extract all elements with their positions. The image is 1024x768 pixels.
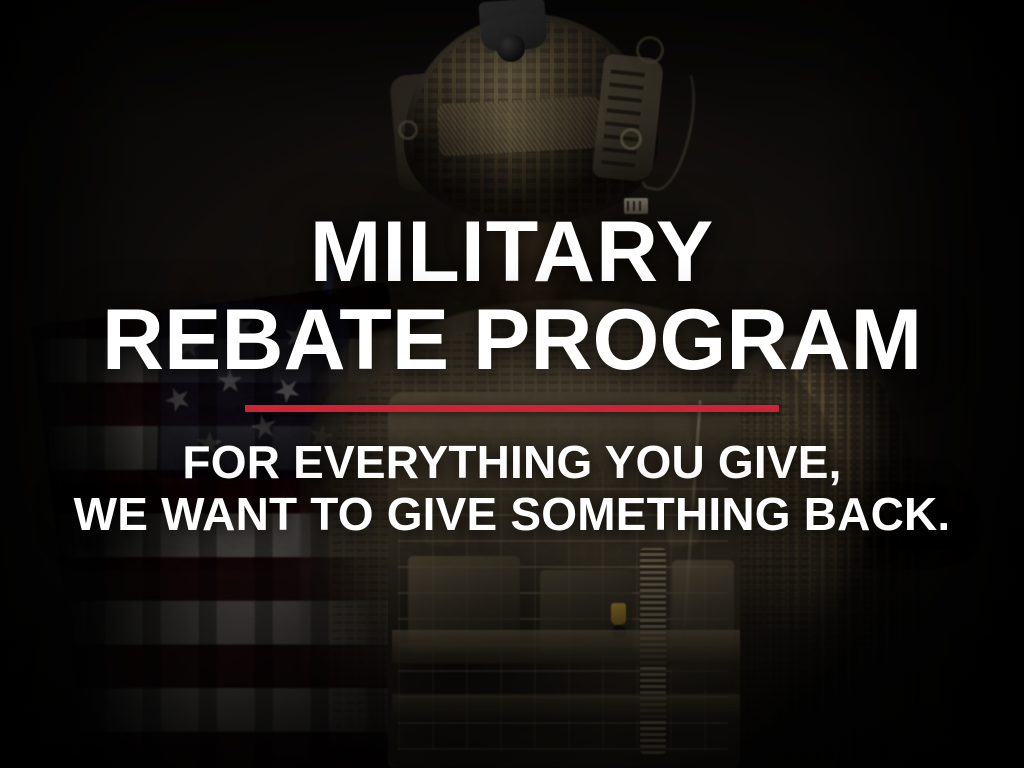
page-title: MILITARY REBATE PROGRAM (0, 0, 1024, 381)
subtitle: FOR EVERYTHING YOU GIVE, WE WANT TO GIVE… (0, 437, 1024, 540)
promo-slide: MILITARY REBATE PROGRAM FOR EVERYTHING Y… (0, 0, 1024, 768)
subtitle-line-2: WE WANT TO GIVE SOMETHING BACK. (0, 489, 1024, 541)
headline-line-1: MILITARY (0, 212, 1024, 294)
headline-line-2: REBATE PROGRAM (0, 300, 1024, 382)
subtitle-line-1: FOR EVERYTHING YOU GIVE, (0, 437, 1024, 489)
text-overlay: MILITARY REBATE PROGRAM FOR EVERYTHING Y… (0, 0, 1024, 768)
accent-divider (245, 405, 779, 412)
